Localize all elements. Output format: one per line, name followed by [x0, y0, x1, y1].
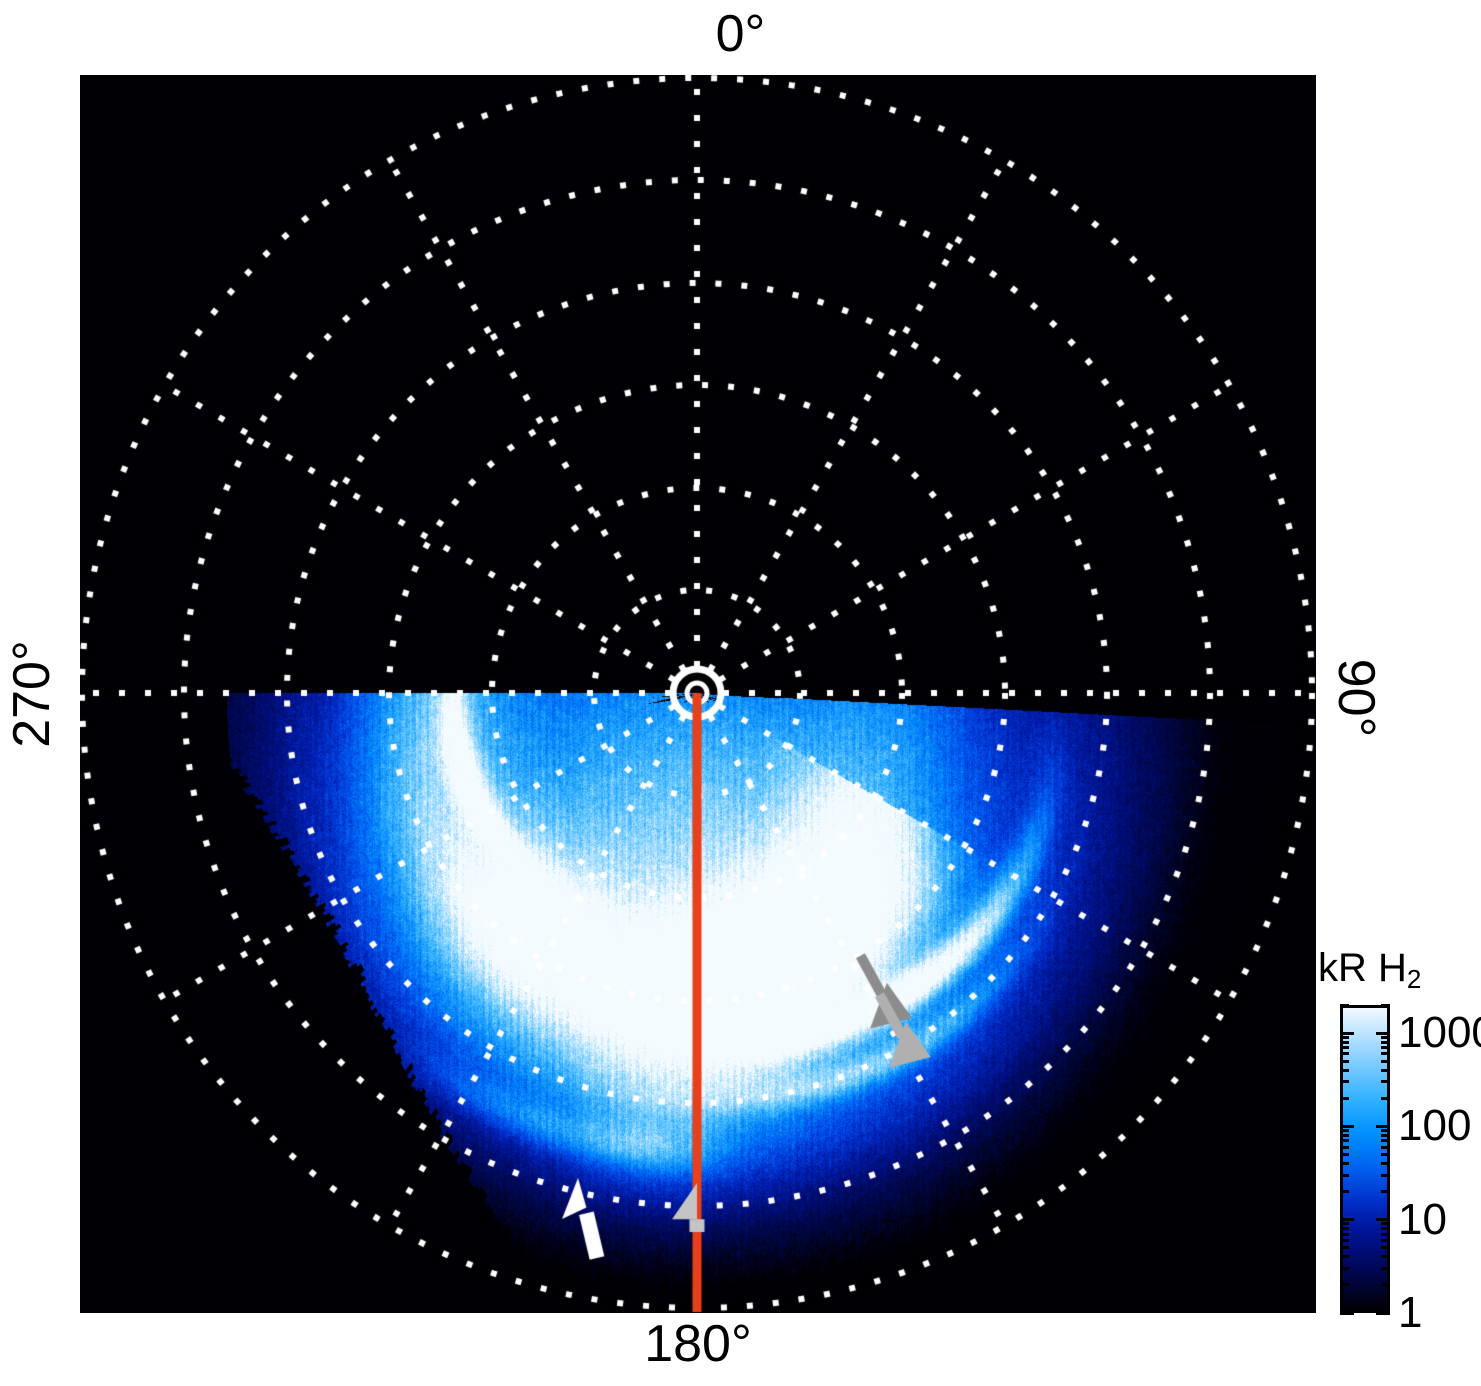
colorbar-tick [1381, 1227, 1390, 1230]
colorbar-tick [1381, 1052, 1390, 1055]
colorbar-tick [1381, 1190, 1390, 1193]
colorbar-tick [1381, 1146, 1390, 1149]
colorbar-tick [1381, 1222, 1390, 1225]
colorbar-tick [1340, 1139, 1349, 1142]
colorbar-tick-label: 1000 [1398, 1011, 1481, 1055]
colorbar-tick [1340, 1267, 1349, 1270]
colorbar-tick [1381, 1036, 1390, 1039]
polar-aurora-figure: 0° 180° 270° 90° kR H2 1101001000 [0, 0, 1481, 1386]
annotation-arrows-overlay [80, 75, 1316, 1313]
colorbar-tick [1340, 1146, 1349, 1149]
polar-plot-panel [80, 75, 1316, 1313]
colorbar-tick [1381, 1267, 1390, 1270]
colorbar-tick-label: 1 [1398, 1291, 1422, 1335]
colorbar-tick [1340, 1036, 1349, 1039]
colorbar-tick [1340, 1134, 1349, 1137]
colorbar-tick [1340, 1312, 1354, 1315]
colorbar-tick [1381, 1139, 1390, 1142]
colorbar-tick [1340, 1227, 1349, 1230]
colorbar-tick [1340, 1097, 1349, 1100]
colorbar-tick [1381, 1080, 1390, 1083]
colorbar-title-subscript: 2 [1407, 964, 1421, 994]
colorbar-tick [1381, 1174, 1390, 1177]
colorbar-tick [1340, 1190, 1349, 1193]
colorbar-tick [1340, 1233, 1349, 1236]
colorbar-tick [1381, 1239, 1390, 1242]
colorbar-tick [1381, 1097, 1390, 1100]
colorbar-tick-label: 10 [1398, 1198, 1447, 1242]
colorbar-tick [1381, 1162, 1390, 1165]
colorbar-tick-marks [1340, 1005, 1390, 1313]
colorbar-tick [1381, 1046, 1390, 1049]
axis-label-top: 0° [0, 8, 1481, 60]
colorbar-tick [1340, 1060, 1349, 1063]
colorbar-tick [1340, 1041, 1349, 1044]
axis-label-left: 270° [6, 624, 58, 764]
colorbar-tick [1340, 1052, 1349, 1055]
colorbar-tick [1381, 1255, 1390, 1258]
colorbar-tick [1381, 1153, 1390, 1156]
colorbar-tick [1340, 1004, 1349, 1007]
colorbar-tick [1381, 1134, 1390, 1137]
colorbar-tick [1340, 1255, 1349, 1258]
colorbar-tick [1381, 1246, 1390, 1249]
colorbar-title-main: kR H [1318, 946, 1407, 990]
colorbar-tick [1340, 1153, 1349, 1156]
colorbar-tick [1376, 1312, 1390, 1315]
colorbar-tick-label: 100 [1398, 1104, 1471, 1148]
colorbar-tick [1381, 1041, 1390, 1044]
colorbar-tick [1381, 1060, 1390, 1063]
colorbar-tick [1340, 1046, 1349, 1049]
colorbar-tick [1381, 1004, 1390, 1007]
colorbar-tick [1376, 1218, 1390, 1221]
colorbar-tick [1381, 1233, 1390, 1236]
colorbar-tick [1340, 1162, 1349, 1165]
colorbar-tick [1340, 1125, 1354, 1128]
colorbar-tick [1340, 1283, 1349, 1286]
colorbar-tick [1376, 1125, 1390, 1128]
colorbar-tick [1340, 1246, 1349, 1249]
colorbar-title: kR H2 [1318, 948, 1421, 988]
colorbar-tick [1340, 1069, 1349, 1072]
colorbar-tick [1381, 1283, 1390, 1286]
colorbar-tick [1340, 1239, 1349, 1242]
colorbar-tick [1381, 1069, 1390, 1072]
colorbar-tick [1340, 1174, 1349, 1177]
colorbar-tick [1340, 1080, 1349, 1083]
colorbar-tick [1340, 1032, 1354, 1035]
colorbar-tick [1381, 1129, 1390, 1132]
axis-label-bottom: 180° [0, 1318, 1396, 1370]
colorbar-tick [1340, 1222, 1349, 1225]
colorbar-tick [1340, 1129, 1349, 1132]
colorbar-tick [1340, 1218, 1354, 1221]
axis-label-right: 90° [1330, 628, 1382, 768]
colorbar-tick [1376, 1032, 1390, 1035]
